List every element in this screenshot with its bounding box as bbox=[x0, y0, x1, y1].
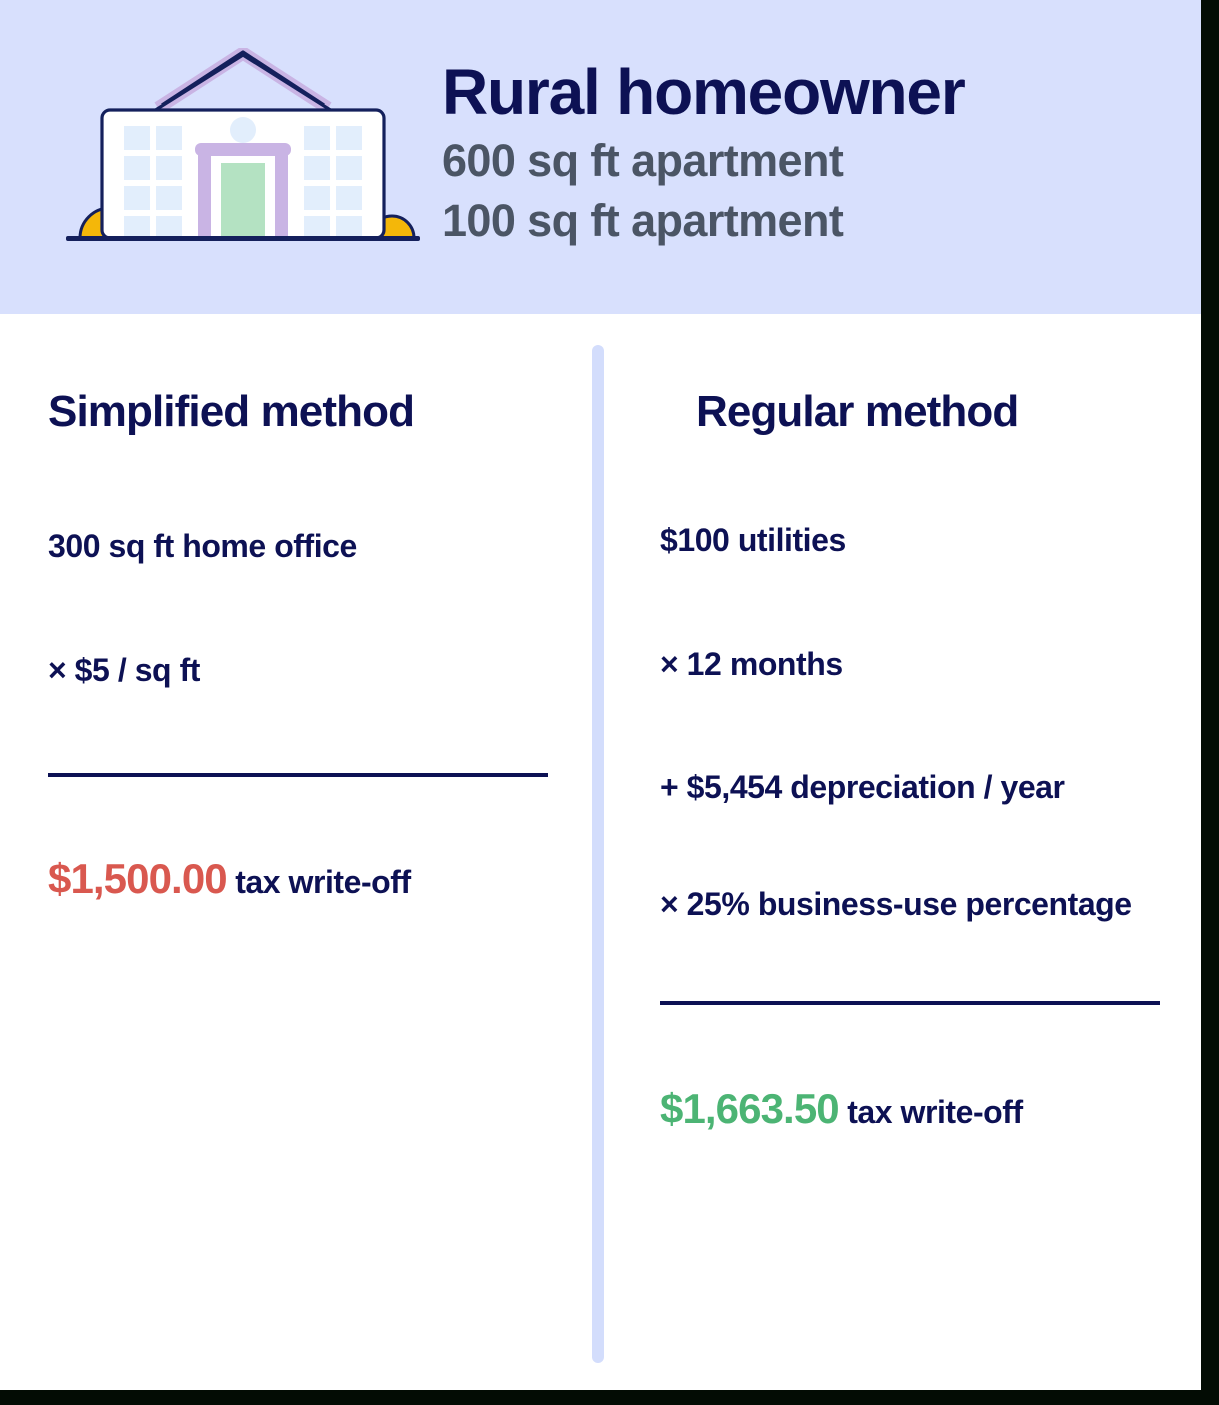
header-subtitle-line-2: 100 sq ft apartment bbox=[442, 191, 1201, 251]
total-simplified: $1,500.00 tax write-off bbox=[48, 855, 548, 904]
frame-edge-bottom bbox=[0, 1390, 1219, 1405]
header-subtitle-line-1: 600 sq ft apartment bbox=[442, 131, 1201, 191]
line-item: + $5,454 depreciation / year bbox=[660, 769, 1160, 806]
header-text-block: Rural homeowner 600 sq ft apartment 100 … bbox=[440, 58, 1201, 257]
total-regular: $1,663.50 tax write-off bbox=[660, 1085, 1160, 1134]
column-divider bbox=[592, 345, 604, 1363]
house-icon bbox=[58, 48, 428, 248]
line-item: × $5 / sq ft bbox=[48, 652, 548, 689]
column-regular-method: Regular method $100 utilities × 12 month… bbox=[660, 314, 1160, 1134]
column-heading-regular: Regular method bbox=[660, 314, 1160, 436]
column-heading-simplified: Simplified method bbox=[48, 314, 548, 436]
total-label-regular: tax write-off bbox=[839, 1094, 1023, 1130]
line-item: $100 utilities bbox=[660, 522, 1160, 559]
total-amount-regular: $1,663.50 bbox=[660, 1085, 839, 1132]
frame-edge-right bbox=[1201, 0, 1219, 1405]
comparison-body: Simplified method 300 sq ft home office … bbox=[0, 314, 1201, 1390]
line-item: × 25% business-use percentage bbox=[660, 886, 1160, 923]
sum-rule-regular bbox=[660, 1001, 1160, 1005]
infographic-page: Rural homeowner 600 sq ft apartment 100 … bbox=[0, 0, 1219, 1405]
line-item: × 12 months bbox=[660, 646, 1160, 683]
house-illustration bbox=[0, 0, 440, 314]
total-amount-simplified: $1,500.00 bbox=[48, 855, 227, 902]
page-title: Rural homeowner bbox=[442, 58, 1201, 127]
column-simplified-method: Simplified method 300 sq ft home office … bbox=[48, 314, 548, 903]
total-label-simplified: tax write-off bbox=[227, 864, 411, 900]
sum-rule-simplified bbox=[48, 773, 548, 777]
header-band: Rural homeowner 600 sq ft apartment 100 … bbox=[0, 0, 1201, 314]
line-item: 300 sq ft home office bbox=[48, 528, 548, 565]
